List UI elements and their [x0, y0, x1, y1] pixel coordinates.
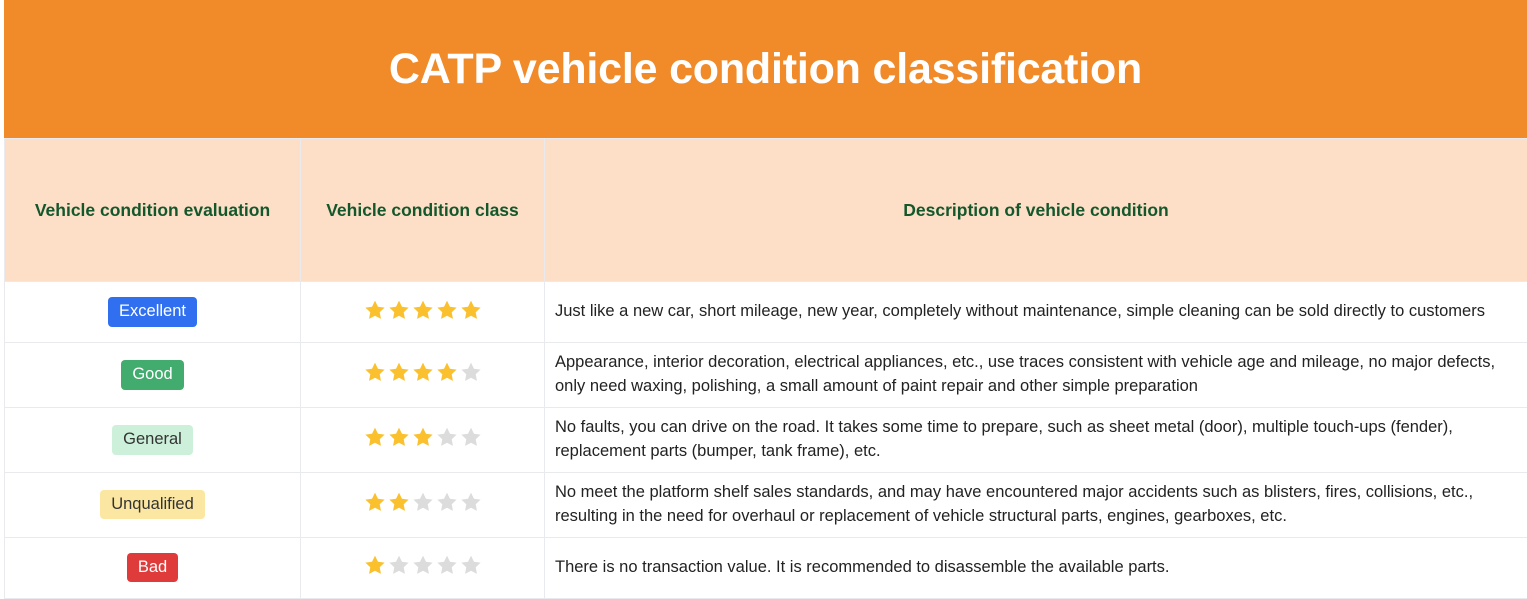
description-cell: Just like a new car, short mileage, new …	[545, 282, 1527, 343]
evaluation-cell: Bad	[5, 537, 301, 598]
class-cell	[301, 282, 545, 343]
star-filled-icon	[363, 360, 387, 384]
table-row: UnqualifiedNo meet the platform shelf sa…	[5, 472, 1527, 537]
status-badge[interactable]: Good	[121, 360, 183, 390]
class-cell	[301, 472, 545, 537]
star-empty-icon	[459, 490, 483, 514]
star-filled-icon	[459, 298, 483, 322]
star-filled-icon	[363, 490, 387, 514]
star-filled-icon	[411, 425, 435, 449]
star-empty-icon	[435, 425, 459, 449]
star-rating[interactable]	[363, 490, 483, 514]
table-row: BadThere is no transaction value. It is …	[5, 537, 1527, 598]
star-empty-icon	[411, 553, 435, 577]
evaluation-cell: Excellent	[5, 282, 301, 343]
evaluation-cell: Good	[5, 343, 301, 408]
star-empty-icon	[387, 553, 411, 577]
star-empty-icon	[435, 553, 459, 577]
star-empty-icon	[459, 425, 483, 449]
class-cell	[301, 407, 545, 472]
vehicle-condition-table: Vehicle condition evaluation Vehicle con…	[4, 138, 1527, 599]
star-empty-icon	[459, 553, 483, 577]
title-banner: CATP vehicle condition classification	[4, 0, 1527, 138]
evaluation-cell: General	[5, 407, 301, 472]
column-header-evaluation: Vehicle condition evaluation	[5, 139, 301, 282]
evaluation-cell: Unqualified	[5, 472, 301, 537]
class-cell	[301, 343, 545, 408]
star-filled-icon	[387, 298, 411, 322]
description-text: No meet the platform shelf sales standar…	[545, 473, 1527, 537]
column-header-description: Description of vehicle condition	[545, 139, 1527, 282]
status-badge[interactable]: General	[112, 425, 193, 455]
description-text: Just like a new car, short mileage, new …	[545, 292, 1527, 332]
table-row: GeneralNo faults, you can drive on the r…	[5, 407, 1527, 472]
description-text: There is no transaction value. It is rec…	[545, 548, 1527, 588]
vehicle-condition-classification-page: CATP vehicle condition classification Ve…	[0, 0, 1527, 579]
star-rating[interactable]	[363, 553, 483, 577]
description-cell: No faults, you can drive on the road. It…	[545, 407, 1527, 472]
table-header-row: Vehicle condition evaluation Vehicle con…	[5, 139, 1527, 282]
star-filled-icon	[435, 360, 459, 384]
star-rating[interactable]	[363, 425, 483, 449]
column-header-class: Vehicle condition class	[301, 139, 545, 282]
star-rating[interactable]	[363, 360, 483, 384]
star-filled-icon	[387, 490, 411, 514]
table-body: ExcellentJust like a new car, short mile…	[5, 282, 1527, 599]
status-badge[interactable]: Excellent	[108, 297, 197, 327]
star-filled-icon	[435, 298, 459, 322]
star-filled-icon	[363, 425, 387, 449]
star-filled-icon	[363, 298, 387, 322]
description-text: No faults, you can drive on the road. It…	[545, 408, 1527, 472]
description-cell: Appearance, interior decoration, electri…	[545, 343, 1527, 408]
description-cell: There is no transaction value. It is rec…	[545, 537, 1527, 598]
star-filled-icon	[387, 360, 411, 384]
star-filled-icon	[387, 425, 411, 449]
star-filled-icon	[363, 553, 387, 577]
description-text: Appearance, interior decoration, electri…	[545, 343, 1527, 407]
table-row: ExcellentJust like a new car, short mile…	[5, 282, 1527, 343]
star-rating[interactable]	[363, 298, 483, 322]
star-empty-icon	[411, 490, 435, 514]
description-cell: No meet the platform shelf sales standar…	[545, 472, 1527, 537]
star-filled-icon	[411, 298, 435, 322]
table-header: Vehicle condition evaluation Vehicle con…	[5, 139, 1527, 282]
page-title: CATP vehicle condition classification	[389, 45, 1142, 94]
star-empty-icon	[459, 360, 483, 384]
class-cell	[301, 537, 545, 598]
status-badge[interactable]: Unqualified	[100, 490, 205, 520]
status-badge[interactable]: Bad	[127, 553, 178, 583]
table-row: GoodAppearance, interior decoration, ele…	[5, 343, 1527, 408]
star-filled-icon	[411, 360, 435, 384]
star-empty-icon	[435, 490, 459, 514]
